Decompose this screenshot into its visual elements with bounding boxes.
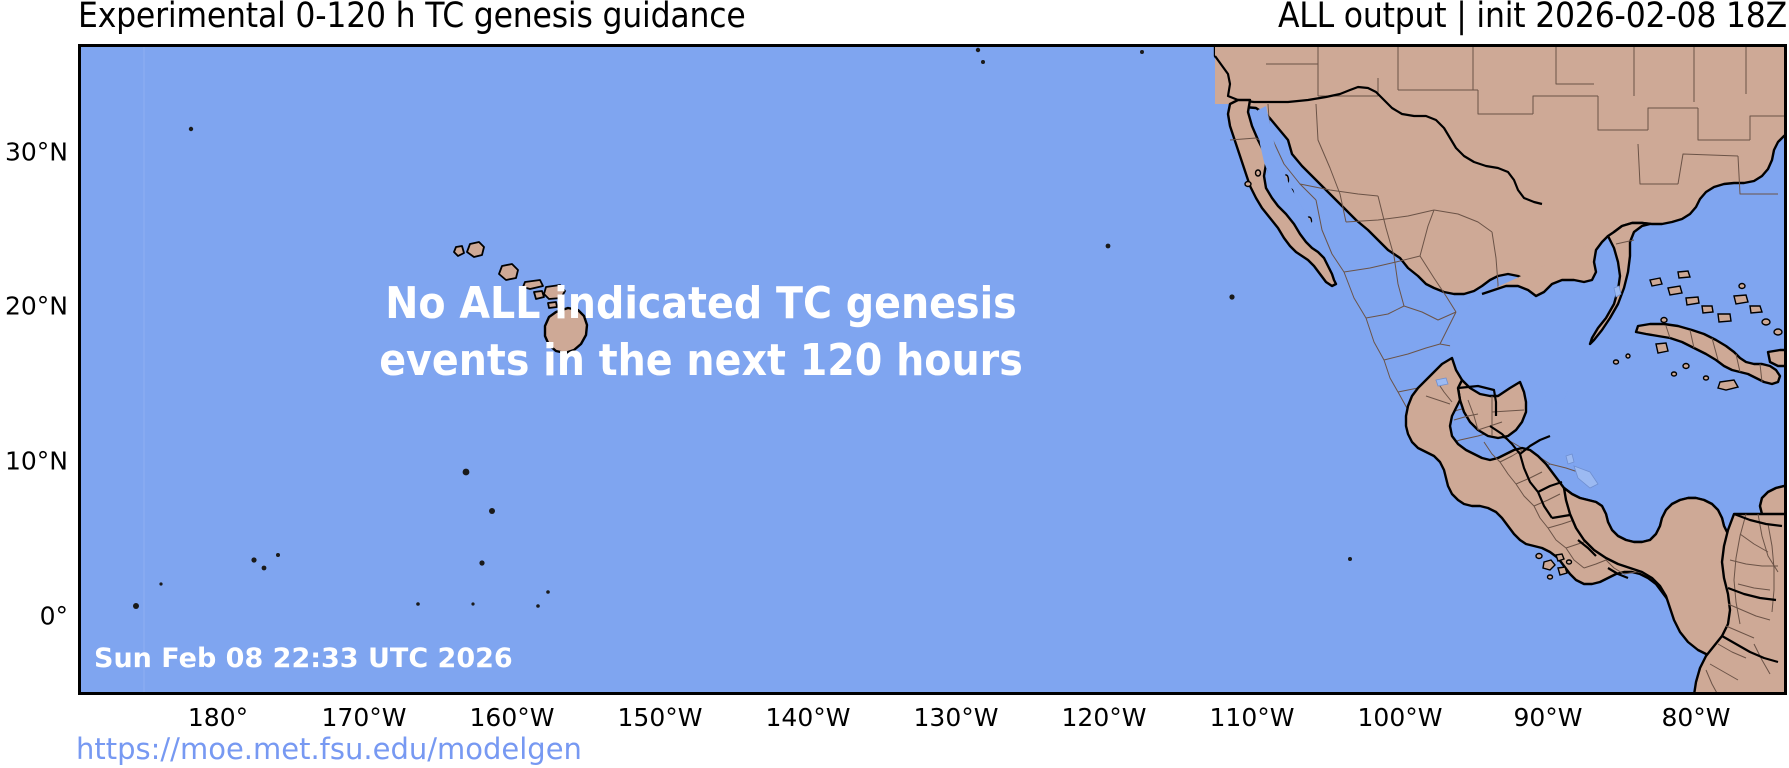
x-tick-label: 160°W — [470, 703, 555, 732]
source-url-link[interactable]: https://moe.met.fsu.edu/modelgen — [76, 732, 582, 766]
model-run-label: ALL output | init 2026-02-08 18Z — [1278, 0, 1787, 36]
map-graphic: .land { fill:#CEA996; stroke:#000000; st… — [78, 44, 1787, 695]
x-tick-label: 100°W — [1358, 703, 1443, 732]
x-tick-label: 170°W — [322, 703, 407, 732]
map-panel[interactable]: .land { fill:#CEA996; stroke:#000000; st… — [78, 44, 1787, 695]
y-tick-label: 20°N — [68, 292, 131, 321]
x-tick-label: 90°W — [1513, 703, 1582, 732]
x-tick-label: 120°W — [1062, 703, 1147, 732]
x-tick-label: 130°W — [914, 703, 999, 732]
y-tick-label: 0° — [68, 602, 96, 631]
y-tick-label: 30°N — [68, 138, 131, 167]
x-tick-label: 110°W — [1210, 703, 1295, 732]
x-tick-label: 150°W — [618, 703, 703, 732]
x-tick-label: 140°W — [766, 703, 851, 732]
title-row: Experimental 0-120 h TC genesis guidance… — [0, 0, 1789, 42]
y-tick-label: 10°N — [68, 447, 131, 476]
x-tick-label: 80°W — [1661, 703, 1730, 732]
page-title: Experimental 0-120 h TC genesis guidance — [78, 0, 746, 36]
x-tick-label: 180° — [188, 703, 248, 732]
valid-time-stamp: Sun Feb 08 22:33 UTC 2026 — [94, 643, 513, 674]
